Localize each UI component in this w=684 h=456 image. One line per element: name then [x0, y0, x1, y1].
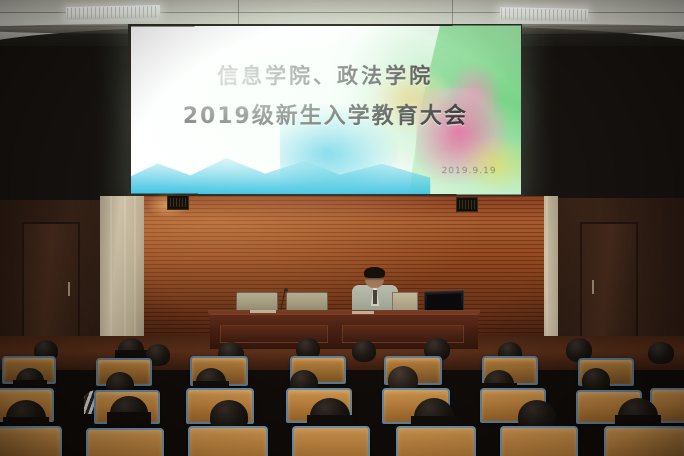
- slide-date: 2019.9.19: [441, 166, 496, 176]
- door-handle-icon: [68, 282, 70, 296]
- audience-seat: [604, 426, 684, 456]
- slide-yellow-splash: [460, 136, 520, 192]
- slide-title-line-1: 信息学院、政法学院: [131, 60, 521, 90]
- audience-seat: [86, 428, 164, 456]
- presenter-hair: [364, 267, 385, 278]
- audience-seat: [0, 426, 62, 456]
- wall-speaker-right-icon: [456, 197, 478, 212]
- ceiling-light-right-icon: [500, 7, 588, 22]
- papers-on-table: [352, 311, 374, 314]
- audience-seat: [188, 426, 268, 456]
- slide-title-line-2: 2019级新生入学教育大会: [131, 98, 521, 130]
- audience-seat: [500, 426, 578, 456]
- auditorium-photo: 信息学院、政法学院 2019级新生入学教育大会 2019.9.19: [0, 0, 684, 456]
- audience-head: [648, 342, 674, 364]
- audience-seat: [396, 426, 476, 456]
- ceiling-light-left-icon: [66, 5, 160, 20]
- column-streak: [110, 196, 112, 358]
- projection-screen: 信息学院、政法学院 2019级新生入学教育大会 2019.9.19: [131, 26, 521, 195]
- presenter-tie: [373, 290, 377, 304]
- laptop-screen: [427, 293, 461, 311]
- left-column: [100, 196, 146, 358]
- wall-speaker-left-icon: [167, 195, 189, 210]
- left-wall-panel: [0, 200, 104, 358]
- right-wall-panel: [552, 198, 684, 358]
- door-left[interactable]: [22, 222, 80, 352]
- audience-head: [110, 396, 148, 430]
- column-streak: [546, 196, 548, 358]
- column-streak: [124, 196, 126, 358]
- microphone-head-icon: [284, 288, 288, 292]
- papers-on-table: [250, 310, 276, 313]
- audience-head: [352, 340, 376, 362]
- audience-seat: [292, 426, 370, 456]
- door-handle-icon: [592, 280, 594, 294]
- door-right[interactable]: [580, 222, 638, 348]
- audience-seating: [0, 338, 684, 456]
- column-streak: [134, 196, 136, 358]
